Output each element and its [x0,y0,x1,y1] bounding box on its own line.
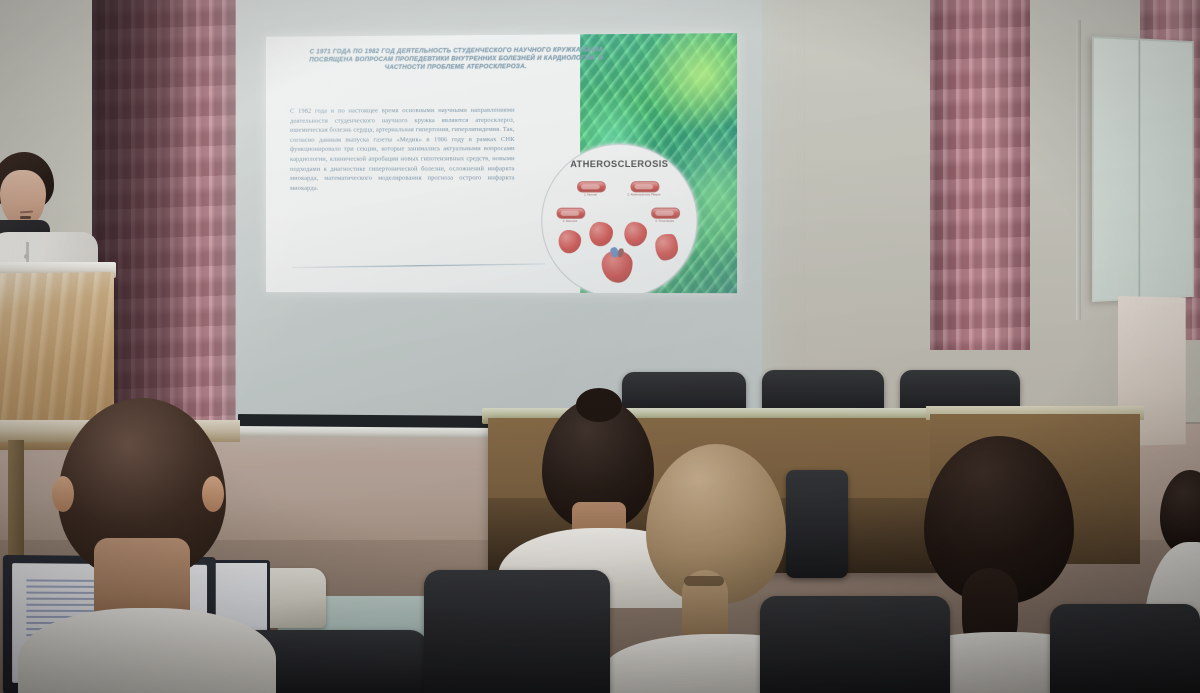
tissue-blob-1 [559,230,582,253]
front-chair-3 [1050,604,1200,693]
hair-bun [576,388,622,422]
vessel-label-1: 1. Normal [573,192,608,196]
presentation-slide: С 1971 ГОДА ПО 1982 ГОД ДЕЯТЕЛЬНОСТЬ СТУ… [266,33,737,293]
ear-left [52,476,74,512]
vessel-label-2: 2. Atherosclerotic Plaque [626,192,661,196]
front-chair-2 [760,596,950,693]
whiteboard [1092,36,1194,302]
presenter-eye [20,216,31,219]
vessel-label-4: 4. Thrombosis [647,219,682,223]
curtain-left [92,0,252,430]
tissue-blob-2 [589,222,613,246]
atherosclerosis-infographic: ATHEROSCLEROSIS 1. Normal 2. Atheroscler… [541,143,697,293]
tissue-blob-3 [624,222,647,246]
whiteboard-rail [1076,20,1081,320]
slide-divider-line [292,263,545,268]
front-chair-1 [424,570,610,693]
heart-icon [602,250,633,283]
vessel-icon-normal [577,181,606,192]
presenter-brow [20,211,33,214]
audience-member-front-left-man [30,398,260,693]
slide-body-text: С 1982 года и по настоящее время основны… [290,106,515,194]
vessel-icon-plaque [631,181,660,192]
whiteboard-seam [1138,40,1140,297]
hair-tie [684,576,724,586]
vessel-label-3: 3. Stenosis [552,219,587,223]
shoulders-white-coat [18,608,276,693]
front-desk-leg [8,440,24,560]
curtain-right [930,0,1030,350]
coat-button-1 [24,254,29,259]
infographic-title: ATHEROSCLEROSIS [542,159,696,170]
ear-right [202,476,224,512]
lecture-hall-scene: С 1971 ГОДА ПО 1982 ГОД ДЕЯТЕЛЬНОСТЬ СТУ… [0,0,1200,693]
slide-title: С 1971 ГОДА ПО 1982 ГОД ДЕЯТЕЛЬНОСТЬ СТУ… [304,46,609,73]
vessel-icon-thrombosis [651,208,680,219]
vessel-icon-stenosis [557,208,586,219]
tissue-blob-4 [655,234,678,260]
